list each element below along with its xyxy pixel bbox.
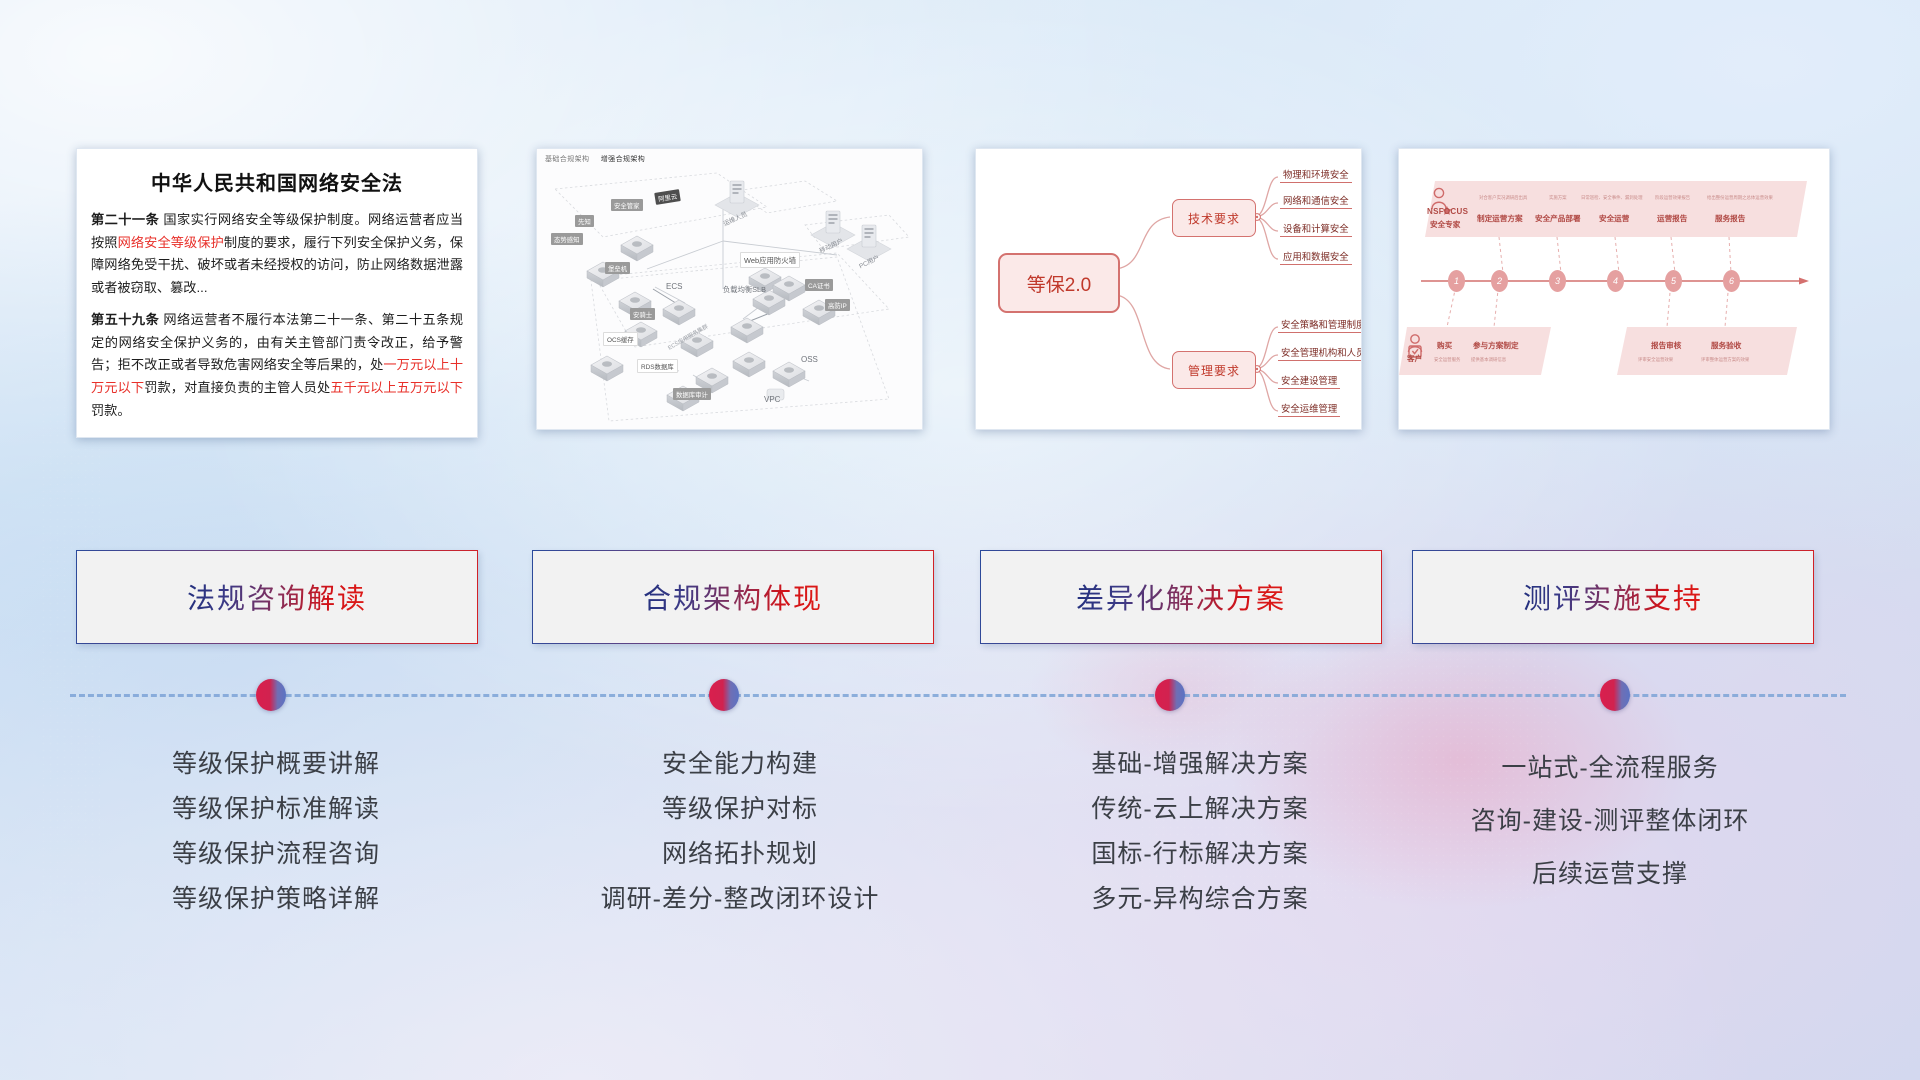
- timeline-top-main-3: 安全运营: [1599, 213, 1629, 224]
- timeline-step-5: 5: [1665, 270, 1682, 292]
- timeline-top-sub-2: 实施方案: [1549, 195, 1567, 201]
- list-item: 调研-差分-整改闭环设计: [530, 877, 950, 922]
- list-item: 基础-增强解决方案: [1000, 742, 1400, 787]
- mindmap-leaf-org-personnel: 安全管理机构和人员: [1278, 345, 1362, 361]
- timeline-bottom-main-1: 购买: [1437, 340, 1452, 351]
- card-law-document[interactable]: 中华人民共和国网络安全法 第二十一条 国家实行网络安全等级保护制度。网络运营者应…: [76, 148, 478, 438]
- article-59-l1: 网络运营者不履行本法第二十一条、第二十五条规: [163, 312, 463, 327]
- list-item: 等级保护流程咨询: [76, 832, 476, 877]
- mindmap-leaf-physical-environment: 物理和环境安全: [1280, 167, 1352, 183]
- timeline-bottom-main-4: 服务验收: [1711, 340, 1741, 351]
- mindmap-leaf-device-computing: 设备和计算安全: [1280, 221, 1352, 237]
- timeline-bottom-main-2: 参与方案制定: [1473, 340, 1519, 351]
- law-article-59: 第五十九条 网络运营者不履行本法第二十一条、第二十五条规定的网络安全保护义务的，…: [91, 309, 463, 423]
- timeline-brand: NSFOCUS: [1427, 207, 1468, 216]
- mindmap-root: 等保2.0: [998, 253, 1120, 313]
- node-label-waf: Web应用防火墙: [740, 252, 800, 268]
- timeline-rail: [70, 694, 1846, 697]
- article-21-l2a: 照: [104, 235, 117, 250]
- timeline-top-main-4: 运营报告: [1657, 213, 1687, 224]
- timeline-step-2: 2: [1491, 270, 1508, 292]
- node-label-db-audit: 数据库审计: [673, 388, 711, 400]
- node-label-vpc: VPC: [761, 393, 783, 405]
- timeline-bead-2[interactable]: [709, 679, 739, 711]
- timeline-top-main-2: 安全产品部署: [1535, 213, 1581, 224]
- list-item: 传统-云上解决方案: [1000, 787, 1400, 832]
- list-item: 后续运营支撑: [1400, 848, 1820, 901]
- mindmap-branch-technical: 技术要求: [1172, 199, 1256, 237]
- list-item: 多元-异构综合方案: [1000, 877, 1400, 922]
- article-21-l2-highlight: 网络安全等级保护: [118, 235, 224, 250]
- section-items-regulation-consulting: 等级保护概要讲解 等级保护标准解读 等级保护流程咨询 等级保护策略详解: [76, 742, 476, 922]
- node-label-ocs-cache: OCS缓存: [603, 332, 638, 346]
- card-mindmap-dengbao[interactable]: 等保2.0 技术要求 管理要求 物理和环境安全 网络和通信安全 设备和计算安全 …: [975, 148, 1362, 430]
- node-label-bastion-host: 堡垒机: [605, 262, 630, 274]
- section-items-evaluation-support: 一站式-全流程服务 咨询-建设-测评整体闭环 后续运营支撑: [1400, 742, 1820, 901]
- article-number-21: 第二十一条: [91, 212, 159, 227]
- timeline-top-main-1: 制定运营方案: [1477, 213, 1523, 224]
- list-item: 国标-行标解决方案: [1000, 832, 1400, 877]
- list-item: 咨询-建设-测评整体闭环: [1400, 795, 1820, 848]
- section-header-label-1: 法规咨询解读: [187, 577, 367, 617]
- timeline-bead-3[interactable]: [1155, 679, 1185, 711]
- section-items-differentiated-solution: 基础-增强解决方案 传统-云上解决方案 国标-行标解决方案 多元-异构综合方案: [1000, 742, 1400, 922]
- node-label-xianzhi: 先知: [575, 215, 594, 227]
- node-label-security-butler: 安全管家: [611, 199, 643, 211]
- section-header-evaluation-support[interactable]: 测评实施支持: [1412, 550, 1814, 644]
- card-architecture-diagram[interactable]: 基础合规架构 增强合规架构: [536, 148, 923, 430]
- list-item: 网络拓扑规划: [530, 832, 950, 877]
- section-header-compliance-architecture[interactable]: 合规架构体现: [532, 550, 934, 644]
- mindmap-leaf-application-data: 应用和数据安全: [1280, 249, 1352, 265]
- article-59-l4a: 罚款，对直接负责的主管人员处: [144, 380, 330, 395]
- list-item: 一站式-全流程服务: [1400, 742, 1820, 795]
- node-label-situation-awareness: 态势感知: [551, 233, 583, 245]
- article-59-penalty-2: 五千元以上五万元以下: [330, 380, 463, 395]
- node-label-slb: 负载均衡SLB: [720, 283, 769, 296]
- timeline-customer: 客户: [1407, 353, 1422, 364]
- node-label-anti-ddos-ip: 高防IP: [825, 299, 850, 311]
- node-label-oss: OSS: [798, 353, 821, 365]
- law-article-21: 第二十一条 国家实行网络安全等级保护制度。网络运营者应当按照网络安全等级保护制度…: [91, 209, 463, 300]
- reference-card-row: 中华人民共和国网络安全法 第二十一条 国家实行网络安全等级保护制度。网络运营者应…: [0, 148, 1920, 448]
- timeline-bead-1[interactable]: [256, 679, 286, 711]
- timeline-bottom-sub-1: 安全运营服务: [1434, 357, 1460, 363]
- timeline-top-main-5: 服务报告: [1715, 213, 1745, 224]
- section-header-regulation-consulting[interactable]: 法规咨询解读: [76, 550, 478, 644]
- section-header-label-2: 合规架构体现: [643, 577, 823, 617]
- timeline-brand-sub: 安全专家: [1430, 219, 1460, 230]
- list-item: 等级保护策略详解: [76, 877, 476, 922]
- list-item: 等级保护概要讲解: [76, 742, 476, 787]
- timeline-bottom-sub-2: 提供基本调研信息: [1471, 357, 1506, 363]
- article-21-l4: 者被窃取、篡改...: [104, 280, 207, 295]
- section-header-label-4: 测评实施支持: [1523, 577, 1703, 617]
- timeline-top-sub-5: 给出整份运营周期之总体运营效果: [1707, 195, 1773, 201]
- node-label-anqishi: 安骑士: [630, 308, 655, 320]
- section-items-compliance-architecture: 安全能力构建 等级保护对标 网络拓扑规划 调研-差分-整改闭环设计: [530, 742, 950, 922]
- section-items-row: 等级保护概要讲解 等级保护标准解读 等级保护流程咨询 等级保护策略详解 安全能力…: [0, 742, 1920, 1042]
- article-number-59: 第五十九条: [91, 312, 159, 327]
- timeline-bead-4[interactable]: [1600, 679, 1630, 711]
- node-label-ca-certificate: CA证书: [805, 279, 833, 291]
- mindmap-leaf-ops-mgmt: 安全运维管理: [1278, 401, 1340, 417]
- mindmap-leaf-construction-mgmt: 安全建设管理: [1278, 373, 1340, 389]
- mindmap-leaf-network-communication: 网络和通信安全: [1280, 193, 1352, 209]
- section-header-label-3: 差异化解决方案: [1076, 577, 1286, 617]
- article-59-l3a: 拒不改正或者导致危害网络安全等后果的，处: [117, 357, 383, 372]
- list-item: 安全能力构建: [530, 742, 950, 787]
- timeline-bottom-main-3: 报告审核: [1651, 340, 1681, 351]
- timeline-bottom-sub-4: 评审整体运营方案的效果: [1701, 357, 1749, 363]
- list-item: 等级保护标准解读: [76, 787, 476, 832]
- list-item: 等级保护对标: [530, 787, 950, 832]
- mindmap-leaf-policy-system: 安全策略和管理制度: [1278, 317, 1362, 333]
- timeline-step-6: 6: [1723, 270, 1740, 292]
- timeline-top-sub-1: 对合客户实况调研后出具: [1479, 195, 1527, 201]
- timeline-top-sub-3: 日常巡检、安全事件、漏洞处理: [1581, 195, 1642, 201]
- card-service-timeline[interactable]: 1 2 3 4 5 6 NSFOCUS 安全专家 客户 对合客户实况调研后出具 …: [1398, 148, 1830, 430]
- mindmap-branch-management: 管理要求: [1172, 351, 1256, 389]
- section-header-differentiated-solution[interactable]: 差异化解决方案: [980, 550, 1382, 644]
- timeline-step-4: 4: [1607, 270, 1624, 292]
- article-59-l4b: 罚款。: [91, 403, 131, 418]
- timeline-step-1: 1: [1448, 270, 1465, 292]
- timeline-bottom-sub-3: 评审安全运营效果: [1638, 357, 1673, 363]
- timeline-step-3: 3: [1549, 270, 1566, 292]
- law-title: 中华人民共和国网络安全法: [91, 167, 463, 196]
- node-label-ecs: ECS: [663, 280, 685, 292]
- section-header-row: 法规咨询解读 合规架构体现 差异化解决方案 测评实施支持: [0, 550, 1920, 646]
- timeline-top-sub-4: 阶段运营效果报告: [1655, 195, 1690, 201]
- article-59-penalty-1b: 以下: [118, 380, 145, 395]
- node-label-rds-database: RDS数据库: [637, 359, 678, 373]
